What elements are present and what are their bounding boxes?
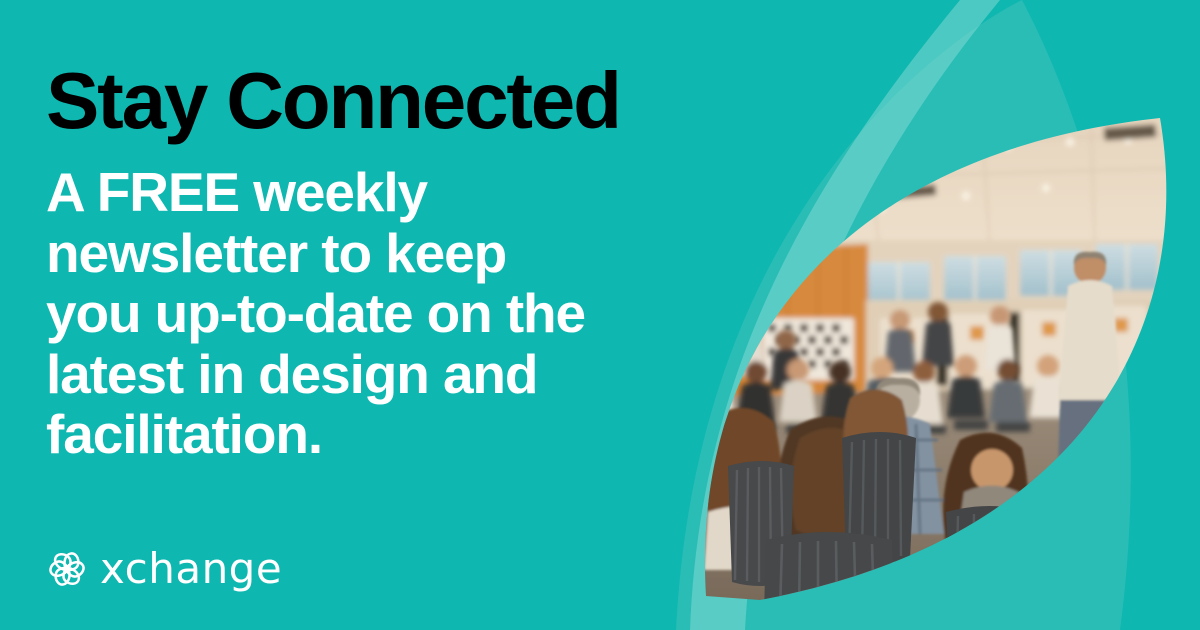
page-title: Stay Connected (46, 62, 706, 140)
xchange-pinwheel-flower-icon (44, 546, 90, 592)
newsletter-promo-card: Stay Connected A FREE weekly newsletter … (0, 0, 1200, 630)
xchange-logo[interactable]: xchange (44, 546, 282, 592)
xchange-wordmark: xchange (100, 548, 282, 590)
subheading-text: A FREE weekly newsletter to keep you up-… (46, 162, 606, 465)
text-column: Stay Connected A FREE weekly newsletter … (46, 62, 706, 465)
